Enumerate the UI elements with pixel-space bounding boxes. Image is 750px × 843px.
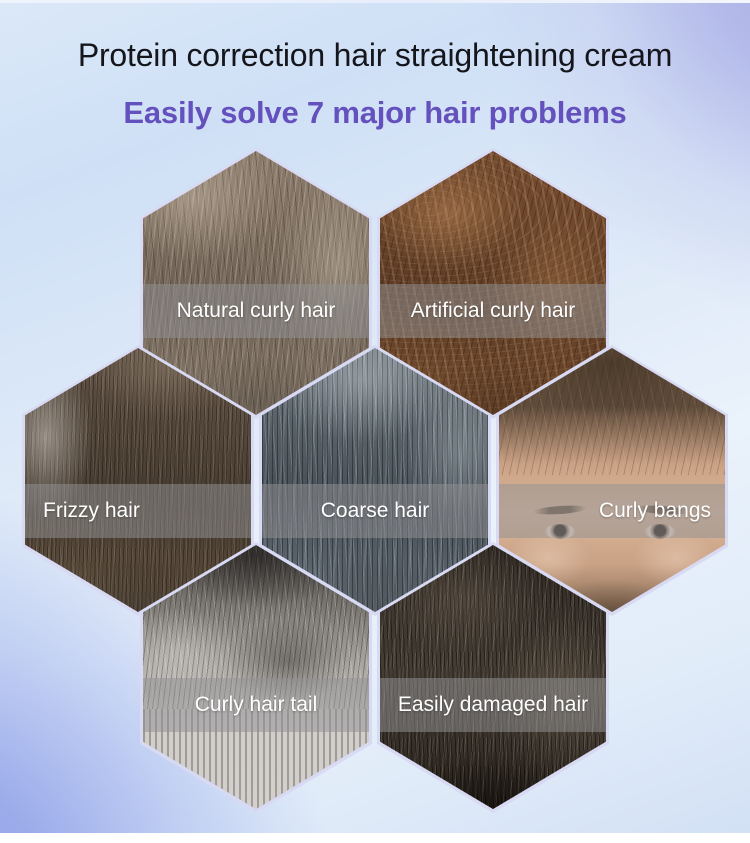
hex-label-band-natural-curly-hair: Natural curly hair xyxy=(143,284,369,338)
hex-label-band-artificial-curly-hair: Artificial curly hair xyxy=(380,284,606,338)
hex-label-band-curly-bangs: Curly bangs xyxy=(499,484,725,538)
hex-label-band-frizzy-hair: Frizzy hair xyxy=(25,484,251,538)
hex-label-frizzy-hair: Frizzy hair xyxy=(43,499,140,523)
bottom-edge-strip xyxy=(0,833,750,843)
hexagon-grid: Natural curly hair Artificial curly hair… xyxy=(0,0,750,843)
hex-label-band-coarse-hair: Coarse hair xyxy=(262,484,488,538)
hex-label-band-easily-damaged-hair: Easily damaged hair xyxy=(380,678,606,732)
hex-label-easily-damaged-hair: Easily damaged hair xyxy=(398,693,588,717)
hex-label-curly-hair-tail: Curly hair tail xyxy=(195,693,318,717)
hex-label-coarse-hair: Coarse hair xyxy=(321,499,430,523)
hex-label-artificial-curly-hair: Artificial curly hair xyxy=(411,299,576,323)
product-poster: Protein correction hair straightening cr… xyxy=(0,0,750,843)
hex-label-natural-curly-hair: Natural curly hair xyxy=(177,299,336,323)
hex-label-band-curly-hair-tail: Curly hair tail xyxy=(143,678,369,732)
hex-label-curly-bangs: Curly bangs xyxy=(599,499,711,523)
